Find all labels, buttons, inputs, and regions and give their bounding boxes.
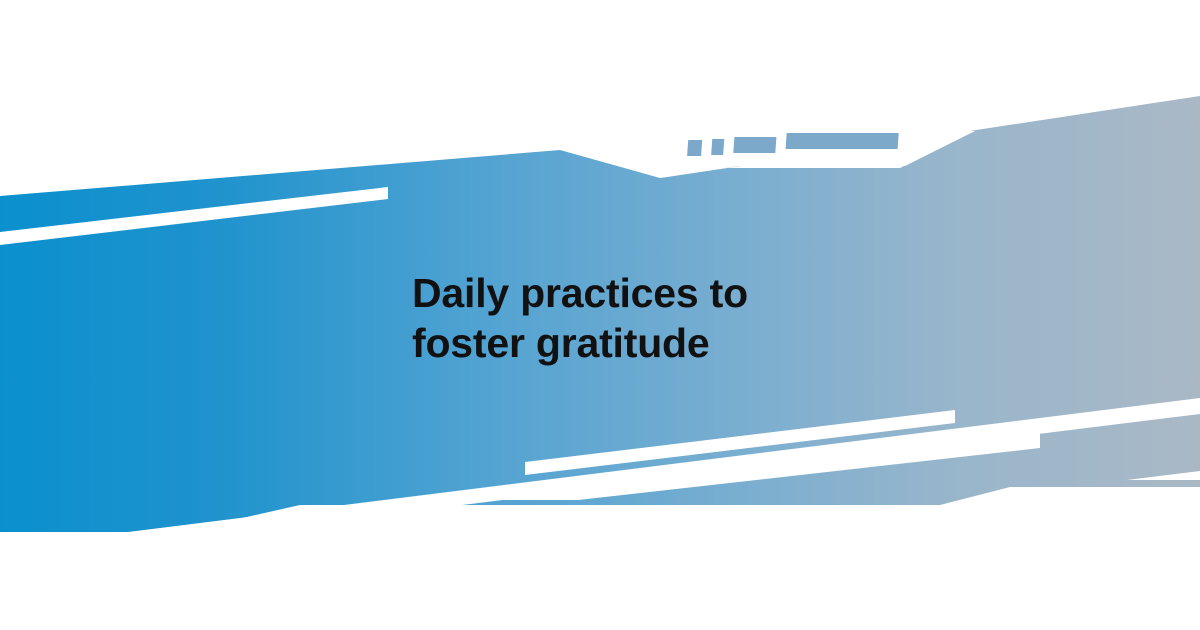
- dash-3: [733, 137, 776, 153]
- dash-4: [786, 133, 899, 149]
- dash-1: [687, 140, 702, 156]
- banner-card: Daily practices to foster gratitude: [0, 0, 1200, 630]
- page-title: Daily practices to foster gratitude: [412, 268, 932, 368]
- dash-2: [711, 139, 724, 155]
- banner-title-text: Daily practices to foster gratitude: [412, 268, 932, 368]
